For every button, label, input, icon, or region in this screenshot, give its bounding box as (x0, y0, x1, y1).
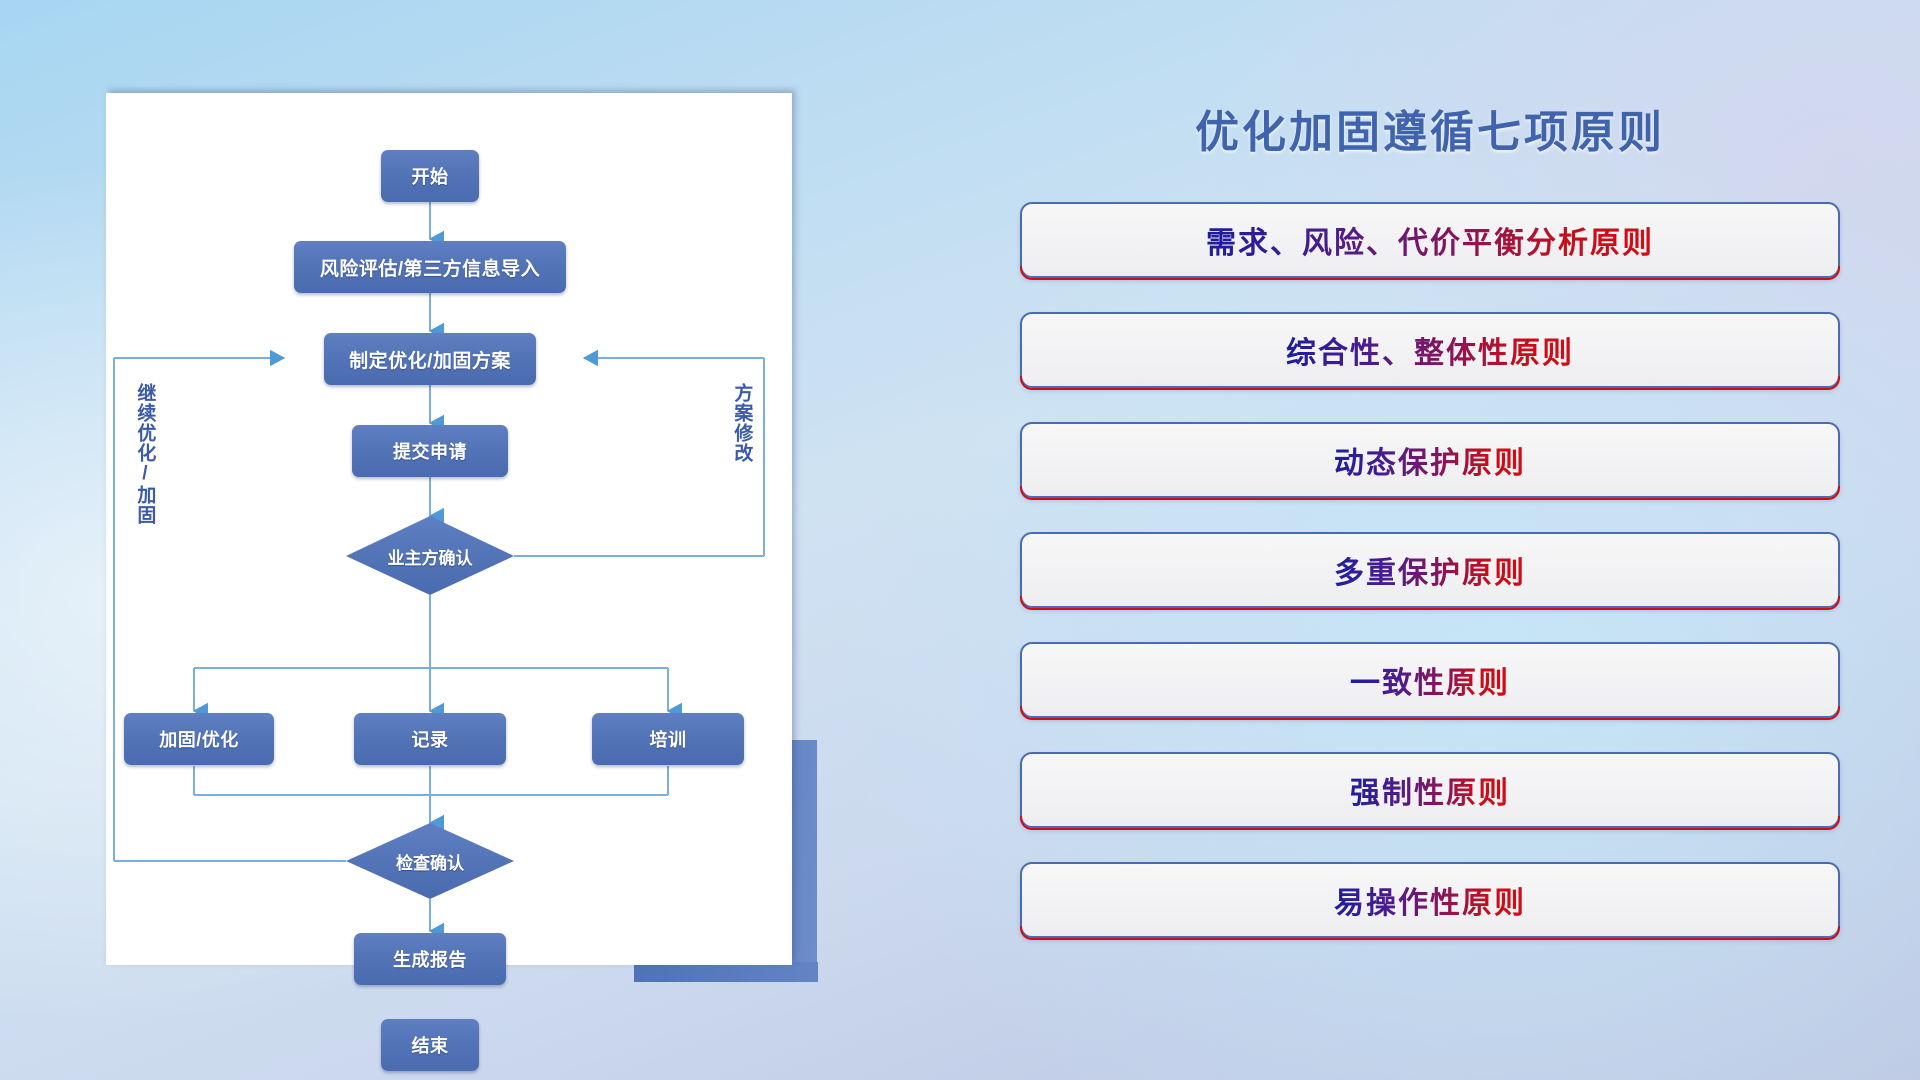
principle-card-7[interactable]: 易操作性原则 (1020, 862, 1840, 938)
edge-label-continue-optimize: 继续优化/加固 (135, 383, 154, 525)
edge-label-plan-revision: 方案修改 (732, 383, 751, 463)
flow-node-inspect-shape (346, 823, 514, 899)
principles-section: 优化加固遵循七项原则 需求、风险、代价平衡分析原则 综合性、整体性原则 动态保护… (1020, 96, 1840, 972)
principle-label: 需求、风险、代价平衡分析原则 (1206, 218, 1654, 262)
flowchart-accent-block-bottom (634, 962, 818, 982)
flow-node-owner-confirm-shape (346, 516, 514, 595)
flow-node-generate-report[interactable]: 生成报告 (354, 933, 506, 985)
flow-node-label: 结束 (412, 1032, 449, 1058)
flow-node-label: 生成报告 (393, 946, 467, 972)
flow-node-end[interactable]: 结束 (381, 1019, 479, 1071)
principle-card-2[interactable]: 综合性、整体性原则 (1020, 312, 1840, 388)
flow-node-label: 制定优化/加固方案 (349, 346, 511, 373)
flow-node-label: 培训 (650, 726, 687, 752)
flow-node-submit-application[interactable]: 提交申请 (352, 425, 508, 477)
flowchart-connectors (106, 93, 792, 965)
principle-card-3[interactable]: 动态保护原则 (1020, 422, 1840, 498)
principles-title: 优化加固遵循七项原则 (1020, 96, 1840, 160)
flow-node-start[interactable]: 开始 (381, 150, 479, 202)
principle-label: 多重保护原则 (1334, 548, 1526, 592)
flow-node-label: 开始 (412, 163, 449, 189)
principle-card-6[interactable]: 强制性原则 (1020, 752, 1840, 828)
flowchart-panel: 开始 风险评估/第三方信息导入 制定优化/加固方案 提交申请 业主方确认 加固/… (106, 93, 792, 965)
principle-label: 一致性原则 (1350, 658, 1510, 702)
principle-label: 动态保护原则 (1334, 438, 1526, 482)
flow-node-risk-assessment[interactable]: 风险评估/第三方信息导入 (294, 241, 566, 293)
principle-card-1[interactable]: 需求、风险、代价平衡分析原则 (1020, 202, 1840, 278)
flow-node-label: 提交申请 (393, 438, 467, 464)
flow-node-label: 记录 (412, 726, 449, 752)
flow-node-plan[interactable]: 制定优化/加固方案 (324, 333, 536, 385)
principle-label: 强制性原则 (1350, 768, 1510, 812)
flow-node-reinforce[interactable]: 加固/优化 (124, 713, 274, 765)
principle-card-5[interactable]: 一致性原则 (1020, 642, 1840, 718)
principle-card-4[interactable]: 多重保护原则 (1020, 532, 1840, 608)
principle-label: 易操作性原则 (1334, 878, 1526, 922)
flow-node-training[interactable]: 培训 (592, 713, 744, 765)
flow-node-label: 风险评估/第三方信息导入 (320, 254, 540, 281)
flow-node-label: 加固/优化 (159, 726, 239, 752)
flow-node-record[interactable]: 记录 (354, 713, 506, 765)
principle-label: 综合性、整体性原则 (1286, 328, 1574, 372)
